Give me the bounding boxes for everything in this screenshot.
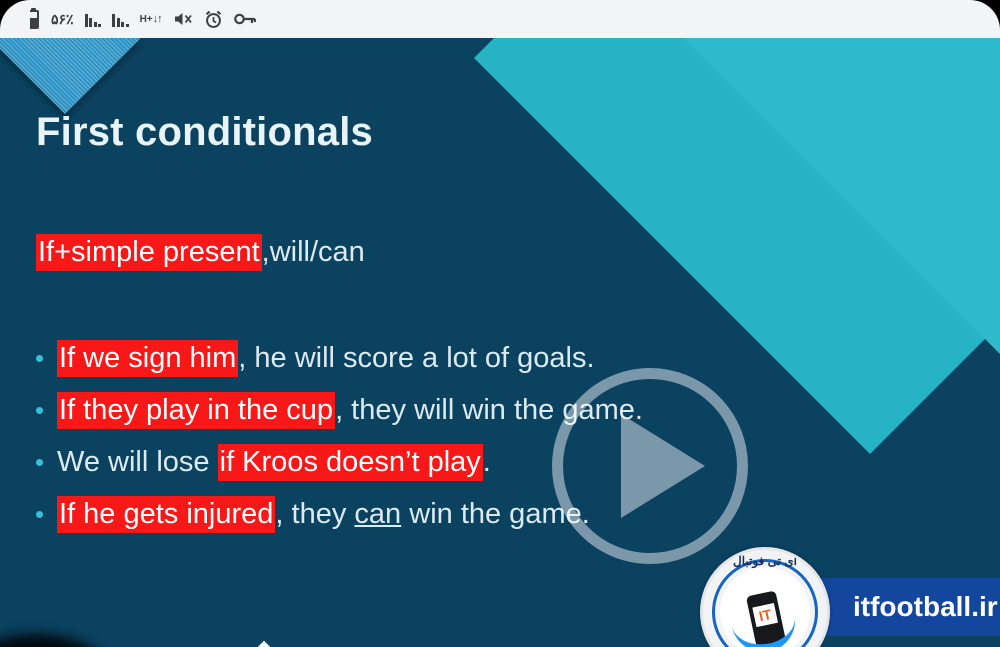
battery-percent-label: ۵۶٪ [51, 11, 74, 28]
slide-content: First conditionals If+simple present,wil… [0, 38, 1000, 647]
play-button[interactable] [552, 368, 748, 564]
bullet-dot-icon [36, 407, 43, 414]
slide-canvas[interactable]: First conditionals If+simple present,wil… [0, 38, 1000, 647]
battery-icon [26, 10, 39, 29]
bullet-dot-icon [36, 511, 43, 518]
bullet-segment-highlight: If they play in the cup [57, 392, 335, 429]
video-player-screen: ۵۶٪ H+ ↓↑ [0, 0, 1000, 647]
signal-sim1-icon [85, 11, 102, 27]
bullet-text: If we sign him, he will score a lot of g… [57, 338, 595, 378]
watermark-banner: itfootball.ir [818, 578, 1000, 636]
bullet-segment-highlight: If he gets injured [57, 496, 275, 533]
formula-rest: ,will/can [262, 236, 365, 268]
bullet-dot-icon [36, 459, 43, 466]
bullet-segment-plain: , he will score a lot of goals. [238, 342, 594, 374]
bullet-segment-plain-end: . [483, 446, 491, 478]
bullet-segment-highlight: If we sign him [57, 340, 238, 377]
formula-line: If+simple present,will/can [36, 236, 365, 269]
signal-sim2-icon [112, 11, 129, 27]
hplus-data-icon: H+ ↓↑ [140, 15, 162, 24]
logo-inner [720, 567, 810, 647]
status-bar: ۵۶٪ H+ ↓↑ [0, 0, 1000, 38]
watermark-logo: آی تی فوتبال IT FOOTBALL [700, 547, 830, 647]
mute-icon [173, 10, 193, 28]
bullet-segment-plain: We will lose [57, 446, 218, 478]
bullet-text: We will lose if Kroos doesn’t play. [57, 442, 491, 482]
bullet-text: If they play in the cup, they will win t… [57, 390, 643, 430]
play-triangle-icon [621, 414, 705, 518]
logo-persian-label: آی تی فوتبال [703, 554, 827, 568]
data-arrows-icon: ↓↑ [153, 15, 162, 24]
swoosh-icon [731, 610, 800, 647]
watermark-site-label: itfootball.ir [853, 591, 998, 623]
vpn-key-icon [234, 12, 256, 26]
bullet-segment-plain: , they [275, 498, 354, 530]
alarm-icon [204, 10, 223, 29]
formula-highlight: If+simple present [36, 234, 262, 271]
slide-title: First conditionals [36, 110, 373, 155]
bullet-text: If he gets injured, they can win the gam… [57, 494, 590, 534]
hplus-label: H+ [140, 15, 153, 24]
bullet-segment-highlight: if Kroos doesn’t play [218, 444, 483, 481]
watermark: itfootball.ir آی تی فوتبال IT FOOTBALL [700, 547, 830, 647]
bullet-segment-underline: can [354, 498, 401, 530]
bullet-dot-icon [36, 355, 43, 362]
